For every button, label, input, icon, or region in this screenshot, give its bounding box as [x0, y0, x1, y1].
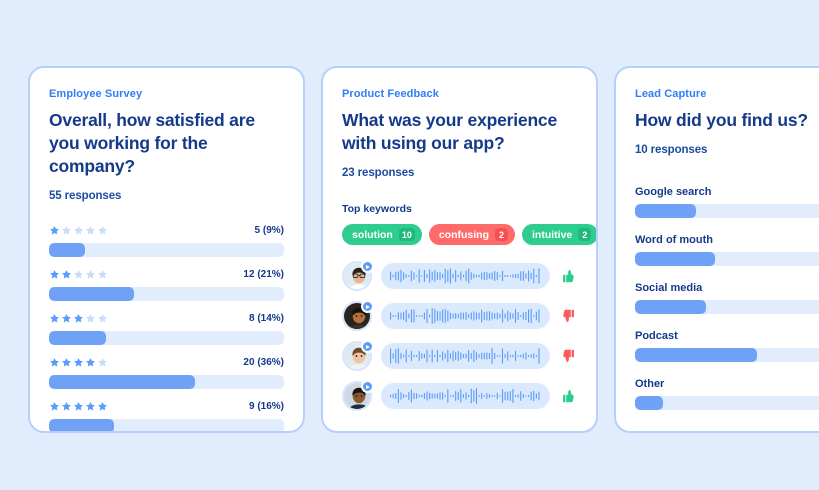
audio-response-row[interactable]: [342, 381, 577, 411]
star-filled-icon: [61, 357, 72, 368]
rating-bar-fill: [49, 287, 134, 301]
rating-row: 9 (16%): [49, 400, 284, 433]
star-filled-icon: [85, 357, 96, 368]
rating-row: 8 (14%): [49, 312, 284, 345]
star-filled-icon: [49, 401, 60, 412]
keyword-chip[interactable]: intuitive2: [522, 224, 598, 245]
rating-count-label: 12 (21%): [243, 269, 284, 280]
star-empty-icon: [61, 225, 72, 236]
source-label: Other: [635, 378, 819, 390]
rating-row-header: 8 (14%): [49, 312, 284, 325]
keyword-chip-label: solution: [352, 229, 393, 241]
card-title-product-feedback: What was your experience with using our …: [342, 109, 577, 155]
source-bar-track: [635, 348, 819, 362]
rating-row-header: 20 (36%): [49, 356, 284, 369]
rating-bar-track: [49, 287, 284, 301]
rating-count-label: 5 (9%): [255, 225, 284, 236]
star-filled-icon: [73, 313, 84, 324]
thumbs-down-icon[interactable]: [559, 307, 577, 325]
star-filled-icon: [85, 401, 96, 412]
keyword-chip-label: confusing: [439, 229, 489, 241]
response-count-lead-capture: 10 responses: [635, 144, 819, 156]
rating-row-header: 5 (9%): [49, 224, 284, 237]
source-row: Social media: [635, 282, 819, 314]
keyword-chip-count: 10: [399, 228, 415, 241]
source-row: Podcast: [635, 330, 819, 362]
source-bar-track: [635, 300, 819, 314]
keyword-chip-count: 2: [578, 228, 591, 241]
star-filled-icon: [61, 269, 72, 280]
survey-cards-board: Employee Survey Overall, how satisfied a…: [0, 0, 819, 490]
rating-count-label: 8 (14%): [249, 313, 284, 324]
card-eyebrow-product-feedback: Product Feedback: [342, 88, 577, 100]
thumbs-down-icon[interactable]: [559, 347, 577, 365]
source-bar-track: [635, 252, 819, 266]
source-bar-track: [635, 396, 819, 410]
avatar: [342, 341, 372, 371]
source-bar-fill: [635, 396, 663, 410]
source-label: Word of mouth: [635, 234, 819, 246]
response-count-product-feedback: 23 responses: [342, 167, 577, 179]
thumbs-up-icon[interactable]: [559, 267, 577, 285]
rating-row: 20 (36%): [49, 356, 284, 389]
star-rating-5: [49, 401, 108, 412]
star-filled-icon: [73, 401, 84, 412]
source-row: Google search: [635, 186, 819, 218]
rating-bar-fill: [49, 375, 195, 389]
star-empty-icon: [85, 269, 96, 280]
star-rating-4: [49, 357, 108, 368]
star-rating-1: [49, 225, 108, 236]
star-filled-icon: [61, 313, 72, 324]
star-filled-icon: [49, 357, 60, 368]
source-row: Other: [635, 378, 819, 410]
keyword-chip[interactable]: confusing2: [429, 224, 515, 245]
source-label: Google search: [635, 186, 819, 198]
star-empty-icon: [97, 269, 108, 280]
audio-response-row[interactable]: [342, 261, 577, 291]
audio-waveform[interactable]: [381, 343, 550, 369]
avatar: [342, 381, 372, 411]
keyword-chip-list: solution10confusing2intuitive2: [342, 224, 577, 245]
rating-breakdown-list: 5 (9%)12 (21%)8 (14%)20 (36%)9 (16%): [49, 224, 284, 433]
card-eyebrow-employee-survey: Employee Survey: [49, 88, 284, 100]
rating-count-label: 9 (16%): [249, 401, 284, 412]
card-eyebrow-lead-capture: Lead Capture: [635, 88, 819, 100]
source-breakdown-list: Google searchWord of mouthSocial mediaPo…: [635, 186, 819, 410]
star-rating-3: [49, 313, 108, 324]
star-filled-icon: [49, 313, 60, 324]
card-product-feedback[interactable]: Product Feedback What was your experienc…: [321, 66, 598, 433]
rating-row-header: 9 (16%): [49, 400, 284, 413]
source-row: Word of mouth: [635, 234, 819, 266]
source-bar-track: [635, 204, 819, 218]
star-rating-2: [49, 269, 108, 280]
rating-row-header: 12 (21%): [49, 268, 284, 281]
star-empty-icon: [73, 225, 84, 236]
card-title-employee-survey: Overall, how satisfied are you working f…: [49, 109, 284, 178]
card-title-lead-capture: How did you find us?: [635, 109, 819, 132]
audio-waveform[interactable]: [381, 303, 550, 329]
play-icon[interactable]: [361, 260, 374, 273]
audio-response-row[interactable]: [342, 341, 577, 371]
star-empty-icon: [85, 313, 96, 324]
star-empty-icon: [73, 269, 84, 280]
rating-count-label: 20 (36%): [243, 357, 284, 368]
star-filled-icon: [73, 357, 84, 368]
star-empty-icon: [85, 225, 96, 236]
audio-waveform[interactable]: [381, 263, 550, 289]
keyword-chip[interactable]: solution10: [342, 224, 422, 245]
keyword-chip-label: intuitive: [532, 229, 572, 241]
rating-bar-track: [49, 419, 284, 433]
star-empty-icon: [97, 357, 108, 368]
star-filled-icon: [61, 401, 72, 412]
play-icon[interactable]: [361, 300, 374, 313]
audio-response-list: [342, 261, 577, 411]
rating-bar-fill: [49, 331, 106, 345]
response-count-employee-survey: 55 responses: [49, 190, 284, 202]
star-filled-icon: [97, 401, 108, 412]
source-bar-fill: [635, 252, 715, 266]
rating-bar-track: [49, 243, 284, 257]
source-bar-fill: [635, 348, 757, 362]
audio-response-row[interactable]: [342, 301, 577, 331]
star-empty-icon: [97, 225, 108, 236]
star-empty-icon: [97, 313, 108, 324]
card-employee-survey[interactable]: Employee Survey Overall, how satisfied a…: [28, 66, 305, 433]
play-icon[interactable]: [361, 380, 374, 393]
source-label: Podcast: [635, 330, 819, 342]
top-keywords-label: Top keywords: [342, 203, 577, 215]
audio-waveform[interactable]: [381, 383, 550, 409]
thumbs-up-icon[interactable]: [559, 387, 577, 405]
source-bar-fill: [635, 300, 706, 314]
rating-bar-fill: [49, 419, 114, 433]
avatar: [342, 261, 372, 291]
rating-row: 12 (21%): [49, 268, 284, 301]
rating-bar-track: [49, 331, 284, 345]
rating-row: 5 (9%): [49, 224, 284, 257]
play-icon[interactable]: [361, 340, 374, 353]
rating-bar-fill: [49, 243, 85, 257]
source-bar-fill: [635, 204, 696, 218]
keyword-chip-count: 2: [495, 228, 508, 241]
source-label: Social media: [635, 282, 819, 294]
rating-bar-track: [49, 375, 284, 389]
card-lead-capture[interactable]: Lead Capture How did you find us? 10 res…: [614, 66, 819, 433]
avatar: [342, 301, 372, 331]
star-filled-icon: [49, 269, 60, 280]
star-filled-icon: [49, 225, 60, 236]
